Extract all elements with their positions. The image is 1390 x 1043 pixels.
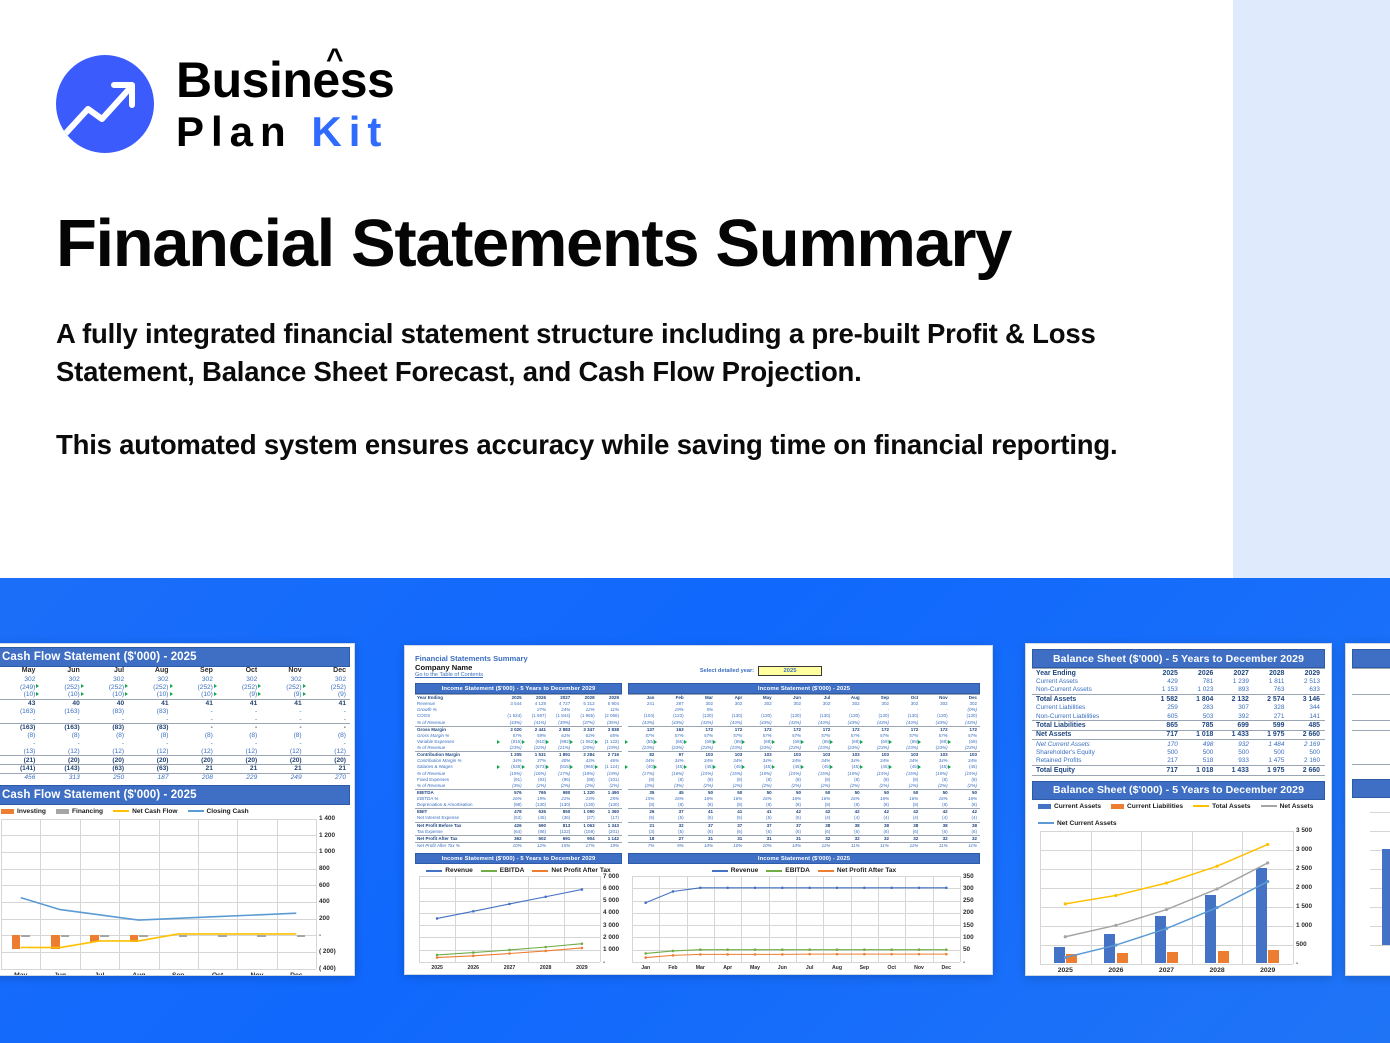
- table-row: EBITDA5767659801 2201 490: [415, 789, 622, 796]
- table-cell: (23%): [716, 745, 745, 752]
- table-row: Current Liabilities259283307328344: [1032, 704, 1325, 712]
- legend-swatch: [1261, 805, 1277, 807]
- table-cell: (9): [217, 691, 261, 699]
- table-cell: 1 081: [1352, 739, 1390, 747]
- table-cell: 813: [549, 822, 573, 829]
- table-cell: 38: [804, 822, 833, 829]
- y-axis-tick-label: 1 000: [319, 848, 335, 855]
- comment-flag-icon: [742, 765, 745, 769]
- legend-item: EBITDA: [481, 867, 525, 874]
- table-cell: (6): [716, 829, 745, 836]
- table-cell: (23%): [775, 745, 804, 752]
- chart-marker: [754, 953, 757, 956]
- table-cell: 37: [657, 809, 686, 816]
- table-cell: 2 169: [1289, 740, 1325, 749]
- table-row: Non-Current Assets1 1531 023893763633: [1032, 686, 1325, 695]
- table-cell: 37: [775, 822, 804, 829]
- comment-flag-icon: [595, 740, 598, 744]
- legend-swatch: [766, 870, 782, 872]
- table-cell: (8): [775, 802, 804, 809]
- table-row: Retained Profits2175189331 4752 160: [1032, 757, 1325, 766]
- table-cell: (43%): [863, 720, 892, 727]
- comment-flag-icon: [889, 765, 892, 769]
- table-cell: (8): [716, 802, 745, 809]
- table-row: Contribution Margin1 2051 5311 8912 2842…: [415, 752, 622, 759]
- comment-flag-icon: [654, 765, 657, 769]
- table-cell: 11%: [804, 842, 833, 849]
- table-cell: (130): [525, 802, 549, 809]
- table-cell: 137: [628, 726, 657, 733]
- row-label: Shareholder's Equity: [1032, 748, 1147, 756]
- table-cell: (130): [573, 802, 597, 809]
- table-cell: (3%): [628, 783, 657, 790]
- comment-flag-icon: [742, 740, 745, 744]
- table-cell: 42: [863, 809, 892, 816]
- table-cell: (69): [863, 739, 892, 745]
- chart-line: [21, 933, 297, 947]
- table-cell: 19%: [598, 842, 622, 849]
- table-row: Total Equity7171 0181 4331 9752 660: [1032, 766, 1325, 775]
- chart-marker: [544, 946, 547, 949]
- table-cell: (45): [892, 764, 921, 770]
- table-row: 456313250187208229249270: [0, 773, 350, 781]
- table-cell: (83): [84, 708, 128, 716]
- table-cell: (6): [863, 829, 892, 836]
- table-cell: (10): [39, 691, 83, 699]
- table-cell: 590: [525, 822, 549, 829]
- comment-flag-icon: [772, 765, 775, 769]
- table-cell: -: [84, 715, 128, 723]
- table-cell: 172: [775, 726, 804, 733]
- table-row: (3%)(3%)(2%)(2%)(2%)(2%)(2%)(2%)(2%)(2%)…: [628, 783, 980, 790]
- table-cell: Jan: [1352, 669, 1390, 678]
- table-row: Shareholder's Equity500500500500500: [1032, 748, 1325, 756]
- annual-income-chart-legend: RevenueEBITDANet Profit After Tax: [415, 864, 622, 876]
- x-axis-tick-label: 2027: [1141, 967, 1192, 974]
- table-cell: (23%): [951, 745, 980, 752]
- table-cell: -: [261, 715, 305, 723]
- chart-marker: [1216, 906, 1219, 909]
- table-cell: 97: [657, 752, 686, 759]
- far-card-chart-band: [1352, 779, 1390, 798]
- table-row: 786: [1352, 721, 1390, 730]
- table-cell: 103: [833, 752, 862, 759]
- table-cell: (45): [657, 764, 686, 770]
- table-row: (5)(5)(5)(5)(5)(5)(4)(4)(4)(4)(4)(4): [628, 815, 980, 822]
- table-cell: 187: [128, 773, 172, 781]
- row-label: EBITDA: [415, 789, 500, 796]
- table-cell: 1 484: [1254, 740, 1290, 749]
- x-axis-tick-label: 2028: [528, 965, 564, 971]
- table-cell: 50: [951, 789, 980, 796]
- table-cell: 478: [500, 809, 524, 816]
- row-label: Net Interest Expense: [415, 815, 500, 822]
- table-cell: 172: [745, 726, 774, 733]
- chart-line: [646, 954, 947, 957]
- y-axis-tick-label: 800: [319, 865, 330, 872]
- gridline: [632, 962, 960, 963]
- table-cell: (8): [687, 802, 716, 809]
- table-cell: (5): [716, 815, 745, 822]
- table-cell: 15%: [549, 842, 573, 849]
- x-axis-tick-label: 2026: [1091, 967, 1142, 974]
- row-label: EBIT: [415, 809, 500, 816]
- table-cell: (69): [951, 739, 980, 745]
- table-cell: (10): [173, 691, 217, 699]
- table-row: (3)(5)(6)(6)(6)(6)(6)(6)(6)(6)(6)(6): [628, 829, 980, 836]
- table-cell: 633: [1289, 686, 1325, 695]
- table-cell: 35: [628, 789, 657, 796]
- table-cell: 38: [921, 822, 950, 829]
- table-cell: (2%): [921, 783, 950, 790]
- row-label: Net Current Assets: [1032, 740, 1147, 749]
- table-cell: (39%): [549, 720, 573, 727]
- table-cell: 2 284: [573, 752, 597, 759]
- table-cell: (6): [687, 829, 716, 836]
- table-cell: (35%): [598, 720, 622, 727]
- row-label: Net Assets: [1032, 730, 1147, 739]
- table-row: % of Revenue(23%)(22%)(21%)(20%)(19%): [415, 745, 622, 752]
- table-cell: 699: [1218, 721, 1254, 730]
- balance-sheet-chart-title: Balance Sheet ($'000) - 5 Years to Decem…: [1032, 781, 1325, 800]
- table-cell: (249): [0, 683, 39, 691]
- chart-marker: [472, 951, 475, 954]
- table-cell: 37: [745, 822, 774, 829]
- chart-marker: [1114, 943, 1117, 946]
- chart-marker: [754, 948, 757, 951]
- chart-line: [21, 897, 297, 919]
- income-statement-screenshot-card: Financial Statements Summary Company Nam…: [404, 645, 993, 975]
- legend-item: Investing: [1, 808, 46, 815]
- table-cell: Apr: [716, 695, 745, 702]
- table-row: 8297103103103103103103103103103103: [628, 752, 980, 759]
- table-cell: (69): [687, 739, 716, 745]
- table-cell: 41: [217, 699, 261, 707]
- chart-lines: [1, 819, 316, 969]
- table-cell: 283: [1183, 704, 1219, 712]
- table-cell: (23%): [687, 745, 716, 752]
- comment-flag-icon: [81, 684, 84, 688]
- table-row: 263741414142424242424242: [628, 809, 980, 816]
- table-cell: 40: [39, 699, 83, 707]
- table-cell: (2%): [549, 783, 573, 790]
- row-label: % of Revenue: [415, 745, 500, 752]
- column-header: Jul: [84, 667, 128, 675]
- table-cell: 50: [804, 789, 833, 796]
- table-cell: 11%: [951, 842, 980, 849]
- table-row: 1 297: [1352, 695, 1390, 704]
- chart-marker: [581, 888, 584, 891]
- legend-label: Total Assets: [1212, 803, 1250, 810]
- table-cell: 37: [716, 822, 745, 829]
- table-cell: 2025: [500, 695, 524, 702]
- table-cell: 302: [261, 675, 305, 683]
- table-cell: 980: [549, 789, 573, 796]
- table-cell: (130): [598, 802, 622, 809]
- table-cell: (45): [863, 764, 892, 770]
- comment-flag-icon: [713, 740, 716, 744]
- y-axis-tick-label: -: [319, 932, 321, 939]
- table-cell: 865: [1147, 721, 1183, 730]
- chart-marker: [836, 953, 839, 956]
- table-row: Variable Expenses(815)(910)(992)(1 062)(…: [415, 739, 622, 745]
- chart-line: [1065, 844, 1267, 903]
- table-cell: Oct: [892, 695, 921, 702]
- table-cell: (8): [745, 802, 774, 809]
- table-cell: 3 838: [598, 726, 622, 733]
- table-cell: 518: [1183, 757, 1219, 766]
- x-axis-tick-label: Aug: [119, 972, 158, 976]
- table-cell: (6): [951, 829, 980, 836]
- table-cell: (8): [39, 732, 83, 740]
- table-row: Net Profit Before Tax4265908131 0631 343: [415, 822, 622, 829]
- table-row: Net Profit After Tax %10%12%15%17%19%: [415, 842, 622, 849]
- table-cell: 270: [306, 773, 350, 781]
- table-cell: (8): [628, 802, 657, 809]
- table-cell: (69): [716, 739, 745, 745]
- legend-swatch: [56, 809, 69, 814]
- cash-flow-header-row: MayJunJulAugSepOctNovDec: [0, 667, 350, 675]
- cash-flow-screenshot-card: Cash Flow Statement ($'000) - 2025 MayJu…: [0, 643, 355, 976]
- row-label: Net Profit After Tax: [415, 835, 500, 842]
- table-cell: 10%: [716, 842, 745, 849]
- table-cell: (252): [84, 683, 128, 691]
- table-cell: 456: [0, 773, 39, 781]
- table-cell: -: [128, 715, 172, 723]
- column-header: Dec: [306, 667, 350, 675]
- chart-marker: [581, 947, 584, 950]
- table-cell: 717: [1147, 766, 1183, 775]
- table-cell: (2%): [833, 783, 862, 790]
- table-cell: 2027: [1218, 669, 1254, 678]
- gridline: [1293, 831, 1294, 964]
- row-label: Non-Current Assets: [1032, 686, 1147, 695]
- table-cell: Aug: [833, 695, 862, 702]
- table-cell: -: [173, 708, 217, 716]
- row-label: Current Assets: [1032, 677, 1147, 685]
- legend-item: Closing Cash: [188, 808, 249, 815]
- table-row: 213237373737383838383838: [628, 822, 980, 829]
- table-cell: -: [128, 740, 172, 748]
- x-axis-tick-label: Oct: [878, 965, 905, 971]
- table-cell: (43%): [745, 720, 774, 727]
- select-year-input[interactable]: 2025: [758, 666, 822, 676]
- table-row: Fixed Expenses(91)(93)(96)(98)(101): [415, 777, 622, 783]
- table-cell: 893: [1218, 686, 1254, 695]
- table-cell: 328: [1254, 704, 1290, 712]
- table-row: (40)(45)(45)(45)(45)(45)(45)(45)(45)(45)…: [628, 764, 980, 770]
- table-cell: (8): [0, 732, 39, 740]
- table-cell: 42: [775, 809, 804, 816]
- chart-marker: [472, 910, 475, 913]
- y-axis-tick-label: 1 000: [603, 946, 619, 953]
- table-cell: 2 441: [525, 726, 549, 733]
- legend-item: Net Profit After Tax: [532, 867, 610, 874]
- comment-flag-icon: [497, 740, 500, 744]
- comment-flag-icon: [595, 765, 598, 769]
- table-cell: May: [745, 695, 774, 702]
- legend-item: Revenue: [426, 867, 473, 874]
- table-cell: 42: [804, 809, 833, 816]
- table-cell: 103: [745, 752, 774, 759]
- table-cell: (159): [573, 829, 597, 836]
- chart-marker: [699, 948, 702, 951]
- table-cell: (83): [84, 724, 128, 732]
- table-cell: 426: [500, 822, 524, 829]
- column-header: Aug: [128, 667, 172, 675]
- table-row: Non-Current Liabilities605503392271141: [1032, 712, 1325, 721]
- table-cell: (20): [306, 756, 350, 765]
- x-axis-tick-label: Sep: [159, 972, 198, 976]
- row-label: Tax Expense: [415, 829, 500, 836]
- table-cell: (69): [921, 739, 950, 745]
- table-cell: 32: [657, 822, 686, 829]
- table-cell: 163: [657, 726, 686, 733]
- gridline: [1370, 812, 1390, 813]
- select-year-label: Select detailed year:: [700, 668, 754, 674]
- chart-marker: [672, 954, 675, 957]
- table-cell: 11%: [892, 842, 921, 849]
- comment-flag-icon: [625, 740, 628, 744]
- table-cell: 2 660: [1289, 730, 1325, 739]
- table-row: JanFebMarAprMayJunJulAugSepOctNovDec: [628, 695, 980, 702]
- gridline: [1040, 964, 1293, 965]
- chart-marker: [1216, 887, 1219, 890]
- growth-arrow-icon: [56, 55, 154, 153]
- monthly-income-table: JanFebMarAprMayJunJulAugSepOctNovDec2412…: [628, 694, 980, 849]
- table-cell: (252): [261, 683, 305, 691]
- monthly-income-chart-title: Income Statement ($'000) - 2025: [628, 853, 980, 864]
- table-cell: 313: [39, 773, 83, 781]
- table-cell: 1 891: [549, 752, 573, 759]
- table-cell: 933: [1218, 757, 1254, 766]
- table-cell: (5): [745, 815, 774, 822]
- chart-marker: [1266, 842, 1269, 845]
- comment-flag-icon: [772, 740, 775, 744]
- chart-lines: [632, 876, 960, 962]
- cash-flow-chart-plot: 1 4001 2001 000800600400200-( 200)( 400)…: [1, 819, 316, 969]
- table-cell: (6): [921, 829, 950, 836]
- row-label: Year Ending: [415, 695, 500, 702]
- x-axis-tick-label: Jul: [80, 972, 119, 976]
- table-cell: (8): [128, 732, 172, 740]
- table-cell: (2%): [573, 783, 597, 790]
- table-cell: 512: [1352, 765, 1390, 774]
- table-cell: (20): [173, 756, 217, 765]
- table-cell: -: [173, 740, 217, 748]
- table-cell: 11%: [921, 842, 950, 849]
- legend-swatch: [481, 870, 497, 872]
- table-cell: (12): [217, 747, 261, 755]
- hero-paragraph-1: A fully integrated financial statement s…: [56, 315, 1141, 390]
- table-cell: 3 347: [573, 726, 597, 733]
- table-of-contents-link[interactable]: Go to the Table of Contents: [415, 672, 528, 678]
- table-cell: 2 132: [1218, 695, 1254, 704]
- table-row: (249)(252)(252)(252)(252)(252)(252)(252): [0, 683, 350, 691]
- chart-marker: [472, 955, 475, 958]
- table-cell: 103: [775, 752, 804, 759]
- table-cell: 10%: [500, 842, 524, 849]
- table-row: 302302302302302302302302: [0, 675, 350, 683]
- table-cell: 1 975: [1254, 730, 1290, 739]
- table-cell: (2%): [687, 783, 716, 790]
- table-cell: 229: [217, 773, 261, 781]
- table-row: 137163172172172172172172172172172172: [628, 726, 980, 733]
- legend-swatch: [113, 810, 129, 812]
- table-cell: (2%): [951, 783, 980, 790]
- table-row: (163)(163)(83)(83)----: [0, 708, 350, 716]
- monthly-balance-sheet-screenshot-card: Jan1 1741241 297936927865121 08150012512…: [1345, 643, 1390, 976]
- comment-flag-icon: [625, 765, 628, 769]
- legend-label: Net Cash Flow: [132, 808, 177, 815]
- x-axis-tick-label: Dec: [933, 965, 960, 971]
- table-cell: (45): [833, 764, 862, 770]
- table-cell: 12: [1352, 756, 1390, 765]
- chart-line: [646, 888, 947, 903]
- table-cell: 307: [1218, 704, 1254, 712]
- chart-marker: [1064, 902, 1067, 905]
- table-row: 12: [1352, 756, 1390, 765]
- table-cell: (40): [628, 764, 657, 770]
- legend-label: Current Assets: [1054, 803, 1101, 810]
- gridline: [1370, 945, 1390, 946]
- table-cell: (122): [549, 829, 573, 836]
- table-row: Year Ending20252026202720282029: [415, 695, 622, 702]
- table-cell: (252): [306, 683, 350, 691]
- x-axis-tick-label: Jun: [769, 965, 796, 971]
- table-cell: 1 153: [1147, 686, 1183, 695]
- table-cell: 93: [1352, 704, 1390, 712]
- comment-flag-icon: [570, 740, 573, 744]
- table-cell: 42: [921, 809, 950, 816]
- table-cell: 271: [1254, 712, 1290, 721]
- table-cell: 502: [525, 835, 549, 842]
- legend-label: Revenue: [731, 867, 759, 874]
- table-cell: (43%): [716, 720, 745, 727]
- table-cell: (12): [261, 747, 305, 755]
- cash-flow-chart-title: Cash Flow Statement ($'000) - 2025: [0, 785, 350, 805]
- legend-label: EBITDA: [785, 867, 810, 874]
- table-cell: 50: [863, 789, 892, 796]
- table-cell: 50: [716, 789, 745, 796]
- table-cell: (37%): [573, 720, 597, 727]
- table-cell: Sep: [863, 695, 892, 702]
- table-cell: 31: [687, 835, 716, 842]
- table-cell: 26: [628, 809, 657, 816]
- chart-marker: [863, 953, 866, 956]
- y-axis-tick-label: 200: [963, 909, 974, 916]
- table-cell: (9): [306, 691, 350, 699]
- legend-item: Total Assets: [1193, 803, 1250, 810]
- table-row: (43%)(43%)(43%)(43%)(43%)(43%)(43%)(43%)…: [628, 720, 980, 727]
- table-cell: 103: [804, 752, 833, 759]
- table-cell: (12): [39, 747, 83, 755]
- legend-swatch: [1038, 822, 1054, 824]
- table-row: 7%9%10%10%10%10%11%11%11%11%11%11%: [628, 842, 980, 849]
- table-cell: (23%): [921, 745, 950, 752]
- table-cell: (55): [628, 739, 657, 745]
- table-cell: 2 574: [1254, 695, 1290, 704]
- comment-flag-icon: [170, 684, 173, 688]
- table-cell: 2025: [1147, 669, 1183, 678]
- chart-marker: [836, 948, 839, 951]
- y-axis-tick-label: 7 000: [603, 873, 619, 880]
- table-cell: 2 160: [1289, 757, 1325, 766]
- x-axis-tick-label: 2027: [491, 965, 527, 971]
- monthly-income-table-title: Income Statement ($'000) - 2025: [628, 683, 980, 694]
- table-row: Total Liabilities865785699599485: [1032, 721, 1325, 730]
- table-row: Current Assets4297811 2391 8112 513: [1032, 677, 1325, 685]
